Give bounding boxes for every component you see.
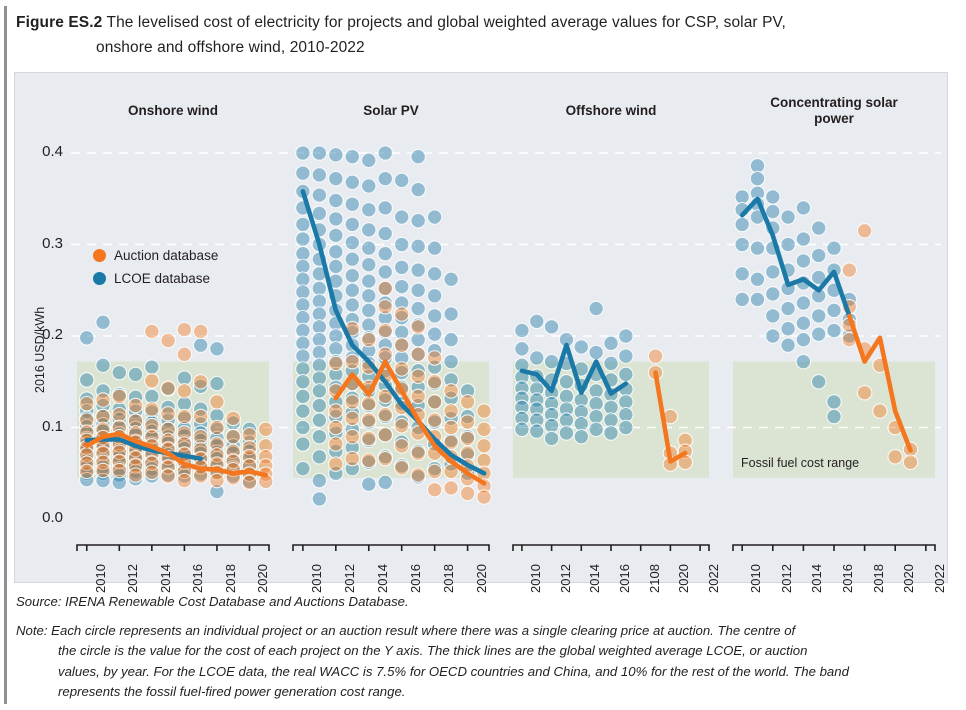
figure-note-line-4: represents the fossil fuel-fired power g… <box>16 682 952 703</box>
figure-page: Figure ES.2 The levelised cost of electr… <box>0 0 966 710</box>
x-tick-label: 2012 <box>125 564 140 593</box>
panel-title-solar-pv: Solar PV <box>263 103 519 119</box>
x-tick-label: 2016 <box>408 564 423 593</box>
chart-legend: Auction databaseLCOE database <box>93 245 218 291</box>
auction-swatch-icon <box>93 249 106 262</box>
x-tick-label: 2010 <box>528 564 543 593</box>
figure-number: Figure ES.2 <box>16 14 102 31</box>
chart-figure: Onshore wind201020122014201620182020Sola… <box>14 72 948 583</box>
x-tick-label: 2022 <box>706 564 721 593</box>
x-tick-label: 2016 <box>190 564 205 593</box>
x-tick-label: 2012 <box>779 564 794 593</box>
x-tick-label: 2022 <box>932 564 947 593</box>
x-tick-label: 2014 <box>587 564 602 593</box>
y-axis-title: 2016 USD/kWh <box>33 307 47 393</box>
x-tick-label: 2018 <box>871 564 886 593</box>
x-tick-label: 2108 <box>647 564 662 593</box>
x-tick-label: 2018 <box>441 564 456 593</box>
figure-title-line-1: Figure ES.2 The levelised cost of electr… <box>16 10 946 35</box>
x-tick-label: 2012 <box>558 564 573 593</box>
y-tick-label: 0.0 <box>23 509 63 526</box>
chart-plot-area <box>15 73 949 584</box>
legend-item[interactable]: LCOE database <box>93 268 218 289</box>
y-tick-label: 0.3 <box>23 235 63 252</box>
figure-note-line-1: Note: Each circle represents an individu… <box>16 621 952 642</box>
lcoe-swatch-icon <box>93 272 106 285</box>
x-tick-label: 2014 <box>158 564 173 593</box>
figure-source: Source: IRENA Renewable Cost Database an… <box>16 592 952 613</box>
x-tick-label: 2010 <box>93 564 108 593</box>
x-tick-label: 2016 <box>617 564 632 593</box>
legend-item-label: LCOE database <box>114 271 210 286</box>
fossil-fuel-band-caption: Fossil fuel cost range <box>741 456 859 470</box>
panel-title-onshore-wind: Onshore wind <box>47 103 299 119</box>
x-tick-label: 2020 <box>676 564 691 593</box>
y-tick-label: 0.4 <box>23 143 63 160</box>
x-tick-label: 2010 <box>748 564 763 593</box>
x-tick-label: 2020 <box>901 564 916 593</box>
figure-note-line-3: values, by year. For the LCOE data, the … <box>16 662 952 683</box>
y-tick-label: 0.1 <box>23 418 63 435</box>
x-tick-label: 2014 <box>375 564 390 593</box>
legend-item[interactable]: Auction database <box>93 245 218 266</box>
x-tick-label: 2020 <box>474 564 489 593</box>
left-margin-rule <box>4 6 7 704</box>
figure-title-line-2: onshore and offshore wind, 2010-2022 <box>16 35 946 60</box>
figure-title-block: Figure ES.2 The levelised cost of electr… <box>16 10 946 60</box>
x-tick-label: 2012 <box>342 564 357 593</box>
legend-item-label: Auction database <box>114 248 218 263</box>
x-tick-label: 2016 <box>840 564 855 593</box>
x-tick-label: 2018 <box>223 564 238 593</box>
figure-title-text-1: The levelised cost of electricity for pr… <box>107 14 786 31</box>
figure-note-line-2: the circle is the value for the cost of … <box>16 641 952 662</box>
figure-footer: Source: IRENA Renewable Cost Database an… <box>16 592 952 703</box>
panel-title-concentrating-solar-power: Concentrating solarpower <box>703 95 965 127</box>
x-tick-label: 2010 <box>309 564 324 593</box>
x-tick-label: 2014 <box>809 564 824 593</box>
panel-title-offshore-wind: Offshore wind <box>483 103 739 119</box>
x-tick-label: 2020 <box>255 564 270 593</box>
